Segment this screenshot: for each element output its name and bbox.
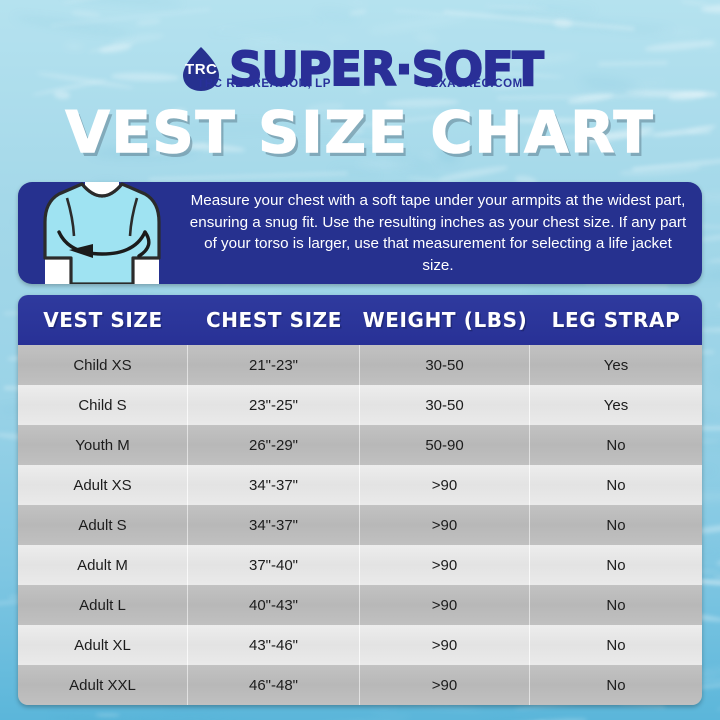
instruction-text: Measure your chest with a soft tape unde…	[186, 190, 702, 276]
table-row: Youth M26"-29"50-90No	[18, 425, 702, 465]
table-row: Adult XXL46"-48">90No	[18, 665, 702, 705]
cell-weight: >90	[360, 665, 530, 705]
page-title: VEST SIZE CHART	[0, 102, 720, 164]
cell-leg-strap: No	[530, 625, 702, 665]
cell-leg-strap: No	[530, 465, 702, 505]
table-header-row: VEST SIZE CHEST SIZE WEIGHT (LBS) LEG ST…	[18, 295, 702, 345]
cell-weight: >90	[360, 465, 530, 505]
cell-chest-size: 37"-40"	[188, 545, 360, 585]
cell-weight: 50-90	[360, 425, 530, 465]
cell-leg-strap: No	[530, 505, 702, 545]
cell-vest-size: Child XS	[18, 345, 188, 385]
table-row: Child XS21"-23"30-50Yes	[18, 345, 702, 385]
cell-weight: >90	[360, 545, 530, 585]
cell-chest-size: 26"-29"	[188, 425, 360, 465]
cell-chest-size: 23"-25"	[188, 385, 360, 425]
column-header-vest-size: VEST SIZE	[18, 295, 188, 345]
cell-leg-strap: No	[530, 425, 702, 465]
cell-weight: 30-50	[360, 345, 530, 385]
cell-vest-size: Adult S	[18, 505, 188, 545]
cell-chest-size: 40"-43"	[188, 585, 360, 625]
cell-weight: >90	[360, 625, 530, 665]
cell-vest-size: Adult XXL	[18, 665, 188, 705]
cell-leg-strap: No	[530, 545, 702, 585]
torso-measure-illustration	[18, 182, 186, 284]
cell-vest-size: Youth M	[18, 425, 188, 465]
column-header-leg-strap: LEG STRAP	[530, 295, 702, 345]
vest-size-table: VEST SIZE CHEST SIZE WEIGHT (LBS) LEG ST…	[18, 295, 702, 705]
cell-chest-size: 43"-46"	[188, 625, 360, 665]
cell-leg-strap: Yes	[530, 345, 702, 385]
cell-chest-size: 34"-37"	[188, 505, 360, 545]
cell-leg-strap: No	[530, 585, 702, 625]
table-row: Adult S34"-37">90No	[18, 505, 702, 545]
cell-vest-size: Adult M	[18, 545, 188, 585]
cell-vest-size: Adult L	[18, 585, 188, 625]
table-row: Adult XL43"-46">90No	[18, 625, 702, 665]
cell-weight: >90	[360, 585, 530, 625]
cell-vest-size: Adult XL	[18, 625, 188, 665]
table-body: Child XS21"-23"30-50YesChild S23"-25"30-…	[18, 345, 702, 705]
cell-vest-size: Adult XS	[18, 465, 188, 505]
table-row: Adult XS34"-37">90No	[18, 465, 702, 505]
website-url: TEXASREC.COM	[423, 78, 523, 90]
cell-chest-size: 21"-23"	[188, 345, 360, 385]
brand-sublabels: TRC RECREATION, LP TEXASREC.COM	[0, 76, 720, 92]
table-row: Adult M37"-40">90No	[18, 545, 702, 585]
cell-weight: 30-50	[360, 385, 530, 425]
table-row: Child S23"-25"30-50Yes	[18, 385, 702, 425]
column-header-chest-size: CHEST SIZE	[188, 295, 360, 345]
instruction-panel: Measure your chest with a soft tape unde…	[18, 182, 702, 284]
cell-chest-size: 46"-48"	[188, 665, 360, 705]
cell-leg-strap: No	[530, 665, 702, 705]
column-header-weight: WEIGHT (LBS)	[360, 295, 530, 345]
company-name: TRC RECREATION, LP	[197, 78, 331, 90]
table-row: Adult L40"-43">90No	[18, 585, 702, 625]
cell-leg-strap: Yes	[530, 385, 702, 425]
cell-chest-size: 34"-37"	[188, 465, 360, 505]
cell-vest-size: Child S	[18, 385, 188, 425]
cell-weight: >90	[360, 505, 530, 545]
